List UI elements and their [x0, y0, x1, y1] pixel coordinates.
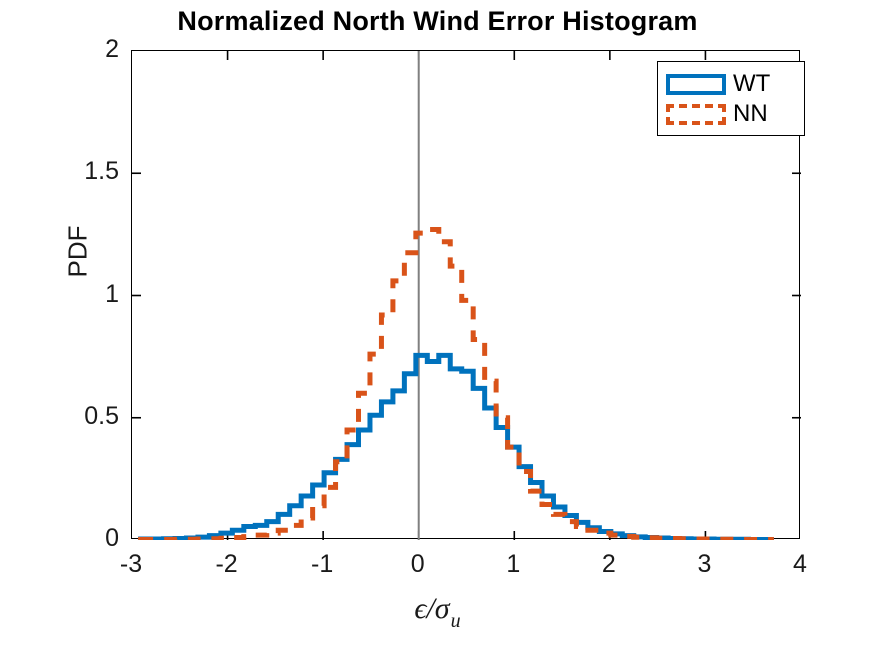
x-tick-label: 2 — [574, 552, 644, 577]
x-axis-label-subscript: u — [451, 610, 461, 632]
legend: WT NN — [657, 61, 805, 136]
x-tick-label: 4 — [765, 552, 835, 577]
x-tick-label: -2 — [192, 552, 262, 577]
series-line-wt — [141, 355, 772, 540]
x-tick-label: 0 — [383, 552, 453, 577]
legend-swatch-wt — [666, 74, 726, 95]
y-tick-label: 1 — [0, 282, 119, 307]
x-tick-label: -3 — [96, 552, 166, 577]
y-tick-label: 0.5 — [0, 404, 119, 429]
y-tick-label: 1.5 — [0, 159, 119, 184]
x-axis-label: ϵ/σu — [0, 592, 875, 633]
legend-item-nn[interactable]: NN — [666, 99, 796, 129]
y-axis-label: PDF — [63, 172, 94, 332]
y-tick-label: 0 — [0, 526, 119, 551]
legend-label-wt: WT — [733, 72, 770, 96]
x-tick-label: -1 — [287, 552, 357, 577]
y-tick-label: 2 — [0, 37, 119, 62]
legend-item-wt[interactable]: WT — [666, 69, 796, 99]
legend-label-nn: NN — [733, 102, 768, 126]
x-tick-label: 3 — [669, 552, 739, 577]
legend-swatch-nn — [666, 104, 726, 125]
x-tick-label: 1 — [478, 552, 548, 577]
figure-canvas: Normalized North Wind Error Histogram 00… — [0, 0, 875, 656]
chart-title: Normalized North Wind Error Histogram — [0, 6, 875, 37]
series-line-nn — [141, 229, 772, 540]
x-axis-label-main: ϵ/σ — [414, 592, 449, 625]
